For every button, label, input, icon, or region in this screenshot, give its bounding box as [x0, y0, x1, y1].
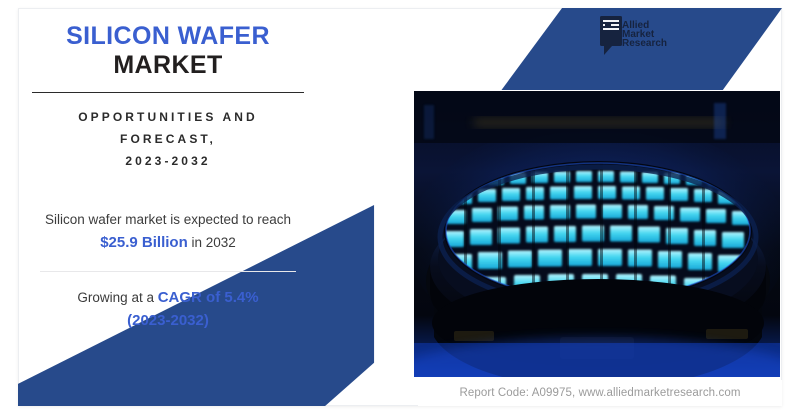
subtitle-line-3: 2023-2032 — [44, 150, 292, 172]
stat-market-value-suffix: in 2032 — [188, 235, 236, 250]
subtitle-block: OPPORTUNITIES AND FORECAST, 2023-2032 — [18, 106, 318, 173]
stat-market-value: Silicon wafer market is expected to reac… — [18, 210, 318, 254]
allied-market-research-logo-icon[interactable]: Allied Market Research — [598, 14, 682, 60]
footer-bar: Report Code: A09975, www.alliedmarketres… — [418, 380, 782, 406]
logo-word-research: Research — [622, 38, 667, 49]
left-content-column: SILICON WAFER MARKET OPPORTUNITIES AND F… — [18, 8, 318, 406]
title-secondary: MARKET — [40, 51, 296, 80]
stat-cagr-highlight: CAGR of 5.4% — [158, 289, 259, 306]
stat-cagr: Growing at a CAGR of 5.4% (2023-2032) — [18, 287, 318, 332]
stat-cagr-years: (2023-2032) — [34, 310, 302, 333]
stat-market-value-prefix: Silicon wafer market is expected to reac… — [45, 212, 291, 227]
title-divider — [32, 92, 304, 93]
subtitle-line-1: OPPORTUNITIES AND — [44, 106, 292, 128]
stat-cagr-prefix: Growing at a — [77, 290, 157, 305]
stat-market-value-highlight: $25.9 Billion — [100, 234, 188, 251]
footer-report-code-text: Report Code: A09975, www.alliedmarketres… — [459, 387, 740, 399]
infographic-root: SILICON WAFER MARKET OPPORTUNITIES AND F… — [0, 0, 800, 420]
stat-divider — [40, 271, 296, 272]
title-primary: SILICON WAFER — [40, 22, 296, 50]
silicon-wafer-photo — [413, 90, 781, 378]
subtitle-line-2: FORECAST, — [44, 128, 292, 150]
page-title: SILICON WAFER MARKET — [18, 8, 318, 80]
